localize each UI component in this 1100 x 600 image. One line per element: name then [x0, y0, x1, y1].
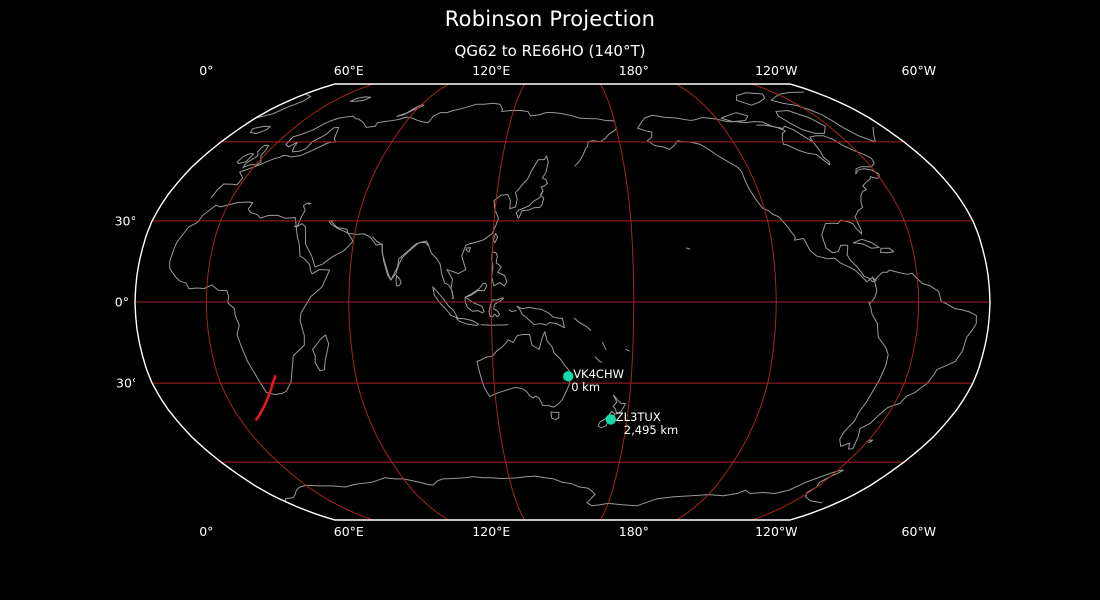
station-distance: 2,495 km	[624, 424, 678, 437]
lon-tick-top: 120°E	[472, 63, 510, 78]
lat-tick: 0°	[115, 295, 129, 310]
station-label-vk4chw: VK4CHW0 km	[573, 368, 624, 394]
map-plot-area: VK4CHW0 kmZL3TUX2,495 km	[135, 84, 990, 520]
page-title: Robinson Projection	[0, 7, 1100, 31]
lon-tick-top: 120°W	[755, 63, 797, 78]
lon-tick-bottom: 60°W	[902, 524, 937, 539]
station-distance: 0 km	[571, 381, 624, 394]
lon-tick-top: 60°E	[334, 63, 364, 78]
lon-tick-bottom: 60°E	[334, 524, 364, 539]
world-map	[135, 84, 990, 520]
lon-tick-top: 180°	[619, 63, 649, 78]
lon-tick-top: 60°W	[902, 63, 937, 78]
lon-tick-top: 0°	[199, 63, 213, 78]
lon-tick-bottom: 0°	[199, 524, 213, 539]
page-subtitle: QG62 to RE66HO (140°T)	[0, 42, 1100, 60]
map-canvas: Robinson Projection QG62 to RE66HO (140°…	[0, 0, 1100, 600]
station-label-zl3tux: ZL3TUX2,495 km	[616, 411, 678, 437]
lon-tick-bottom: 120°E	[472, 524, 510, 539]
lon-tick-bottom: 180°	[619, 524, 649, 539]
lon-tick-bottom: 120°W	[755, 524, 797, 539]
